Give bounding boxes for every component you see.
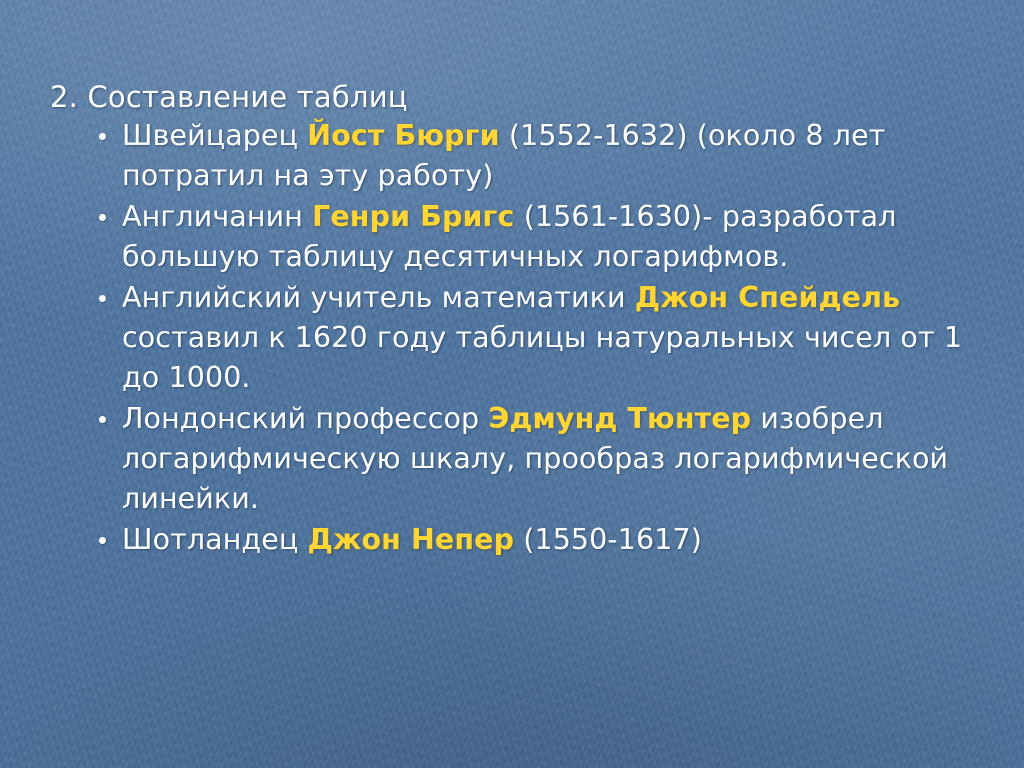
bullet-text-run: Лондонский профессор (122, 402, 488, 435)
bullet-item-burgi: Швейцарец Йост Бюрги (1552-1632) (около … (88, 116, 988, 196)
bullet-list: Швейцарец Йост Бюрги (1552-1632) (около … (88, 116, 988, 561)
bullet-item-gunter: Лондонский профессор Эдмунд Тюнтер изобр… (88, 399, 988, 519)
highlighted-name: Джон Спейдель (635, 281, 900, 314)
highlighted-name: Генри Бригс (312, 200, 514, 233)
bullet-item-briggs: Англичанин Генри Бригс (1561-1630)- разр… (88, 197, 988, 277)
bullet-item-napier: Шотландец Джон Непер (1550-1617) (88, 520, 988, 560)
bullet-text-run: Швейцарец (122, 119, 307, 152)
slide-content: 2. Составление таблиц Швейцарец Йост Бюр… (0, 0, 1024, 768)
bullet-text-run: Англичанин (122, 200, 312, 233)
slide-title: 2. Составление таблиц (50, 80, 408, 114)
bullet-item-speidell: Английский учитель математики Джон Спейд… (88, 278, 988, 398)
bullet-text-run: Шотландец (122, 523, 308, 556)
presentation-slide: 2. Составление таблиц Швейцарец Йост Бюр… (0, 0, 1024, 768)
highlighted-name: Йост Бюрги (307, 119, 499, 152)
highlighted-name: Джон Непер (308, 523, 515, 556)
bullet-text-run: Английский учитель математики (122, 281, 635, 314)
bullet-text-run: (1550-1617) (514, 523, 702, 556)
highlighted-name: Эдмунд Тюнтер (488, 402, 751, 435)
bullet-text-run: составил к 1620 году таблицы натуральных… (122, 321, 962, 394)
